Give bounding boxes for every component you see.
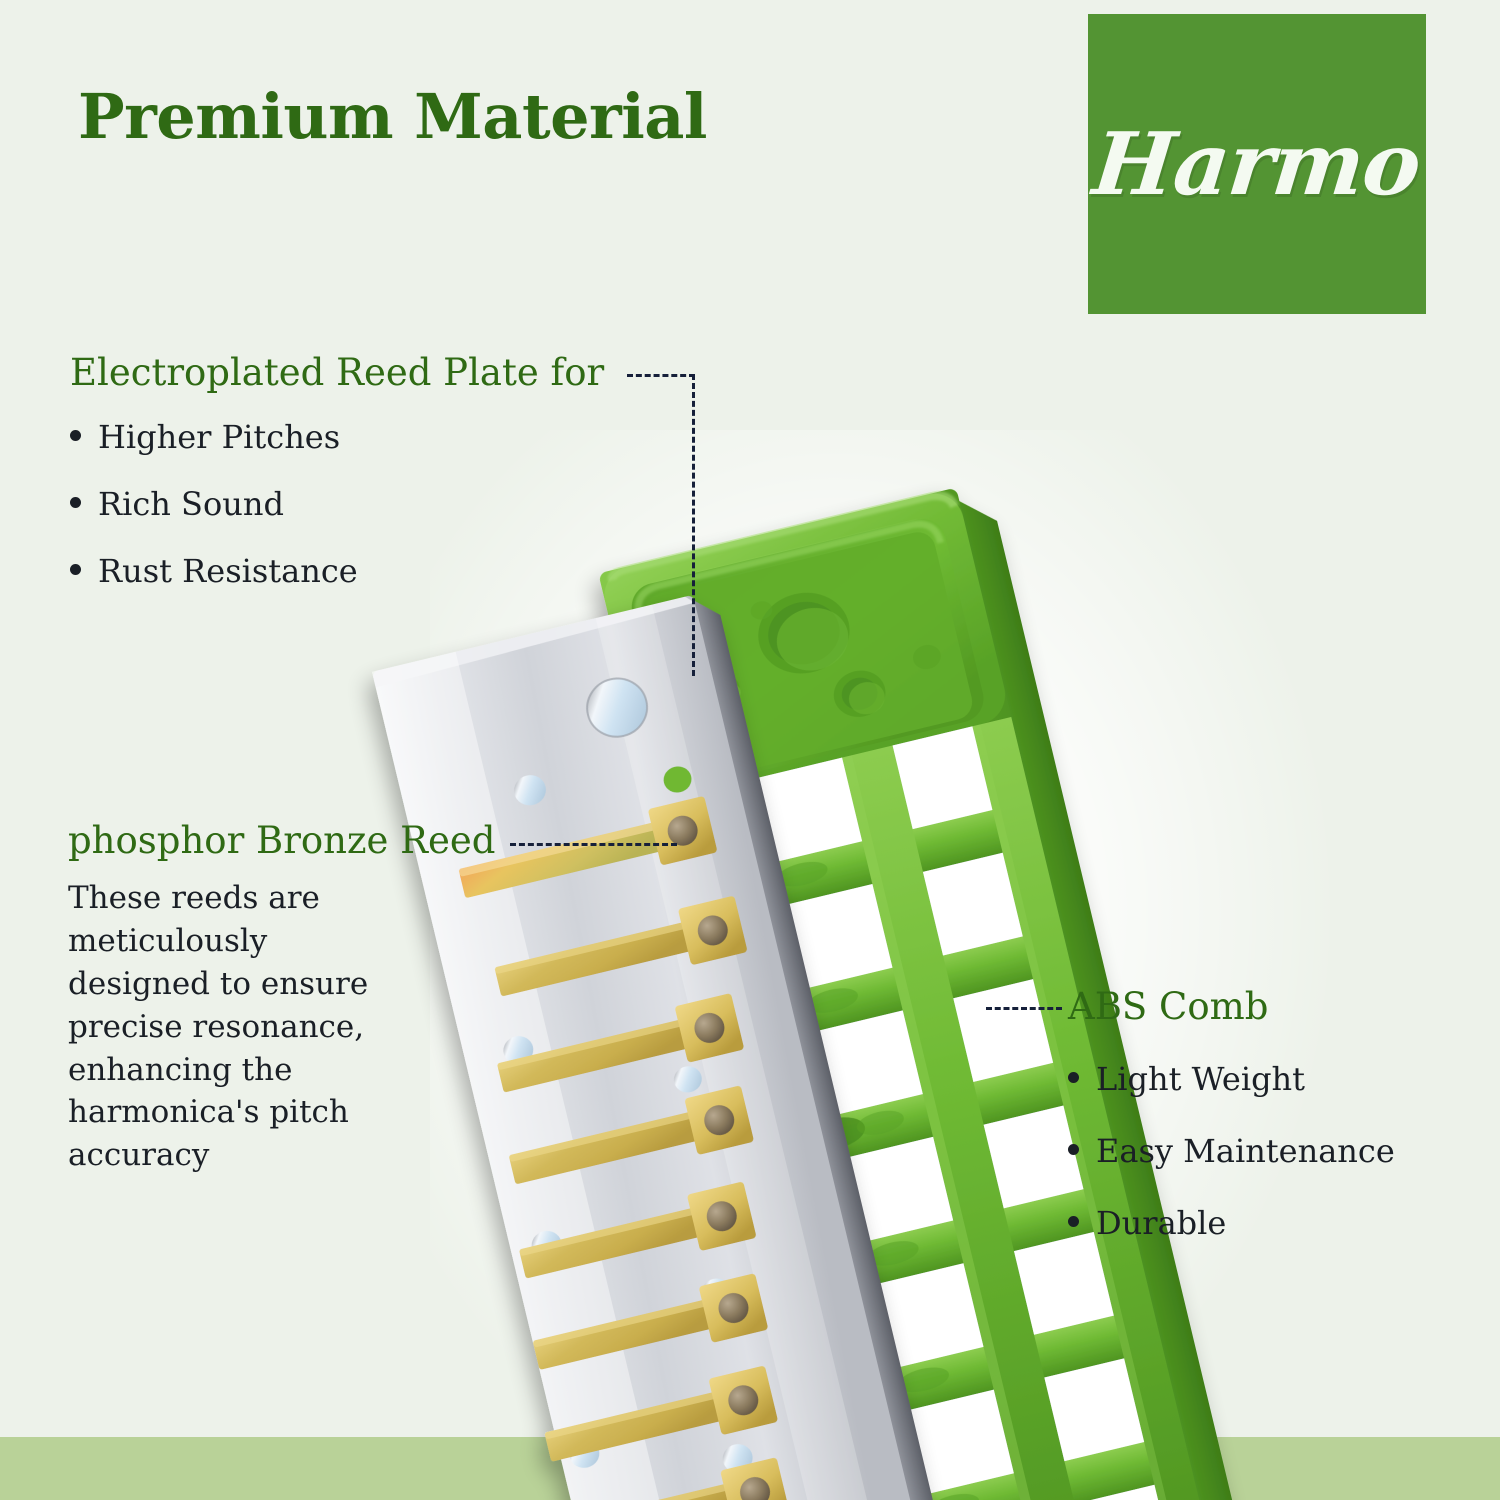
bullet-icon xyxy=(1068,1216,1079,1227)
list-item-label: Higher Pitches xyxy=(98,419,340,457)
annotation-reed-plate: Electroplated Reed Plate for Higher Pitc… xyxy=(70,352,604,620)
list-item: Easy Maintenance xyxy=(1068,1133,1395,1171)
leader-line-abs-comb xyxy=(986,1007,1062,1010)
list-item: Light Weight xyxy=(1068,1061,1395,1099)
infographic-page: Premium Material Harmo Electroplated Ree… xyxy=(0,0,1500,1500)
bullet-icon xyxy=(70,497,81,508)
bullet-icon xyxy=(70,564,81,575)
bullet-icon xyxy=(70,430,81,441)
list-item: Rich Sound xyxy=(70,486,604,524)
bullet-icon xyxy=(1068,1144,1079,1155)
list-item: Durable xyxy=(1068,1205,1395,1243)
list-item: Rust Resistance xyxy=(70,553,604,591)
feature-list-reed-plate: Higher Pitches Rich Sound Rust Resistanc… xyxy=(70,419,604,590)
leader-line-reed-plate-horizontal xyxy=(627,374,695,377)
list-item-label: Easy Maintenance xyxy=(1096,1133,1395,1171)
annotation-bronze-reed: phosphor Bronze Reed These reeds are met… xyxy=(68,820,496,1177)
list-item-label: Rich Sound xyxy=(98,486,284,524)
page-title: Premium Material xyxy=(78,84,707,149)
list-item-label: Durable xyxy=(1096,1205,1226,1243)
annotation-heading-abs-comb: ABS Comb xyxy=(1068,986,1395,1027)
annotation-body-bronze-reed: These reeds are meticulously designed to… xyxy=(68,877,403,1176)
annotation-heading-reed-plate: Electroplated Reed Plate for xyxy=(70,352,604,393)
leader-line-bronze-reed xyxy=(510,843,677,846)
brand-wordmark: Harmo xyxy=(1089,114,1425,215)
annotation-heading-bronze-reed: phosphor Bronze Reed xyxy=(68,820,496,861)
annotation-abs-comb: ABS Comb Light Weight Easy Maintenance D… xyxy=(1068,986,1395,1277)
leader-line-reed-plate-vertical xyxy=(692,374,695,676)
bullet-icon xyxy=(1068,1072,1079,1083)
brand-logo-badge: Harmo xyxy=(1088,14,1426,314)
list-item: Higher Pitches xyxy=(70,419,604,457)
feature-list-abs-comb: Light Weight Easy Maintenance Durable xyxy=(1068,1061,1395,1242)
list-item-label: Light Weight xyxy=(1096,1061,1305,1099)
list-item-label: Rust Resistance xyxy=(98,553,358,591)
